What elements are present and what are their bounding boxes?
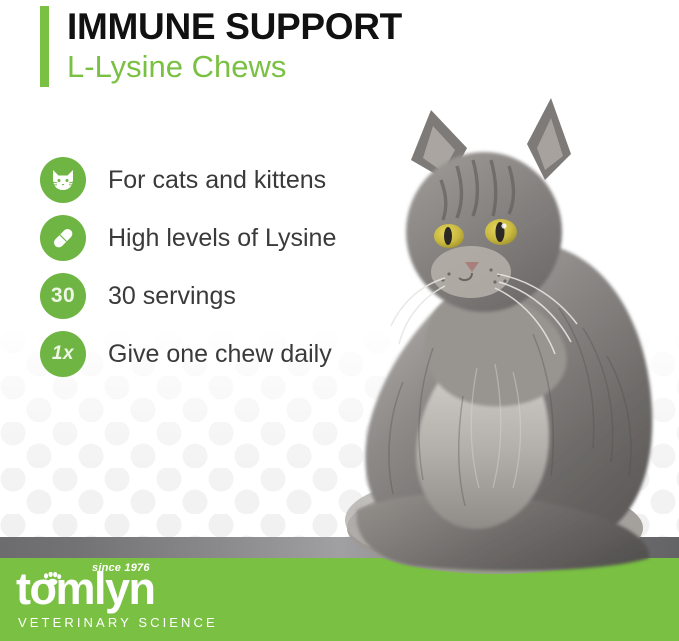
feature-item-dosage: 1x Give one chew daily [40, 331, 336, 377]
dosage-frequency-text: 1x [52, 343, 74, 365]
feature-label: 30 servings [108, 282, 236, 311]
gray-tabby-cat-photo [345, 96, 679, 574]
servings-count-text: 30 [51, 284, 75, 308]
cat-eye-highlight [501, 223, 506, 228]
feature-label: For cats and kittens [108, 166, 326, 195]
feature-item-cats: For cats and kittens [40, 157, 336, 203]
cat-illustration [345, 96, 679, 574]
paw-print-icon [43, 572, 62, 585]
cat-pupil-left [444, 227, 452, 245]
brand-tagline: VETERINARY SCIENCE [18, 615, 218, 630]
cat-face-icon [40, 157, 86, 203]
feature-item-servings: 30 30 servings [40, 273, 336, 319]
tomlyn-logo: tomlyn since 1976 VETERINARY SCIENCE [16, 566, 218, 630]
brand-since: since 1976 [92, 562, 150, 574]
servings-count-icon: 30 [40, 273, 86, 319]
feature-label: High levels of Lysine [108, 224, 336, 253]
dosage-frequency-icon: 1x [40, 331, 86, 377]
capsule-pill-icon [40, 215, 86, 261]
header-block: IMMUNE SUPPORT L-Lysine Chews [40, 6, 402, 87]
page-subtitle: L-Lysine Chews [67, 48, 402, 87]
page-title: IMMUNE SUPPORT [67, 7, 402, 46]
feature-list: For cats and kittens High levels of Lysi… [40, 157, 336, 389]
feature-item-lysine: High levels of Lysine [40, 215, 336, 261]
green-accent-bar [40, 6, 49, 87]
product-marketing-image: IMMUNE SUPPORT L-Lysine Chews [0, 0, 679, 641]
title-group: IMMUNE SUPPORT L-Lysine Chews [67, 6, 402, 87]
feature-label: Give one chew daily [108, 340, 332, 369]
